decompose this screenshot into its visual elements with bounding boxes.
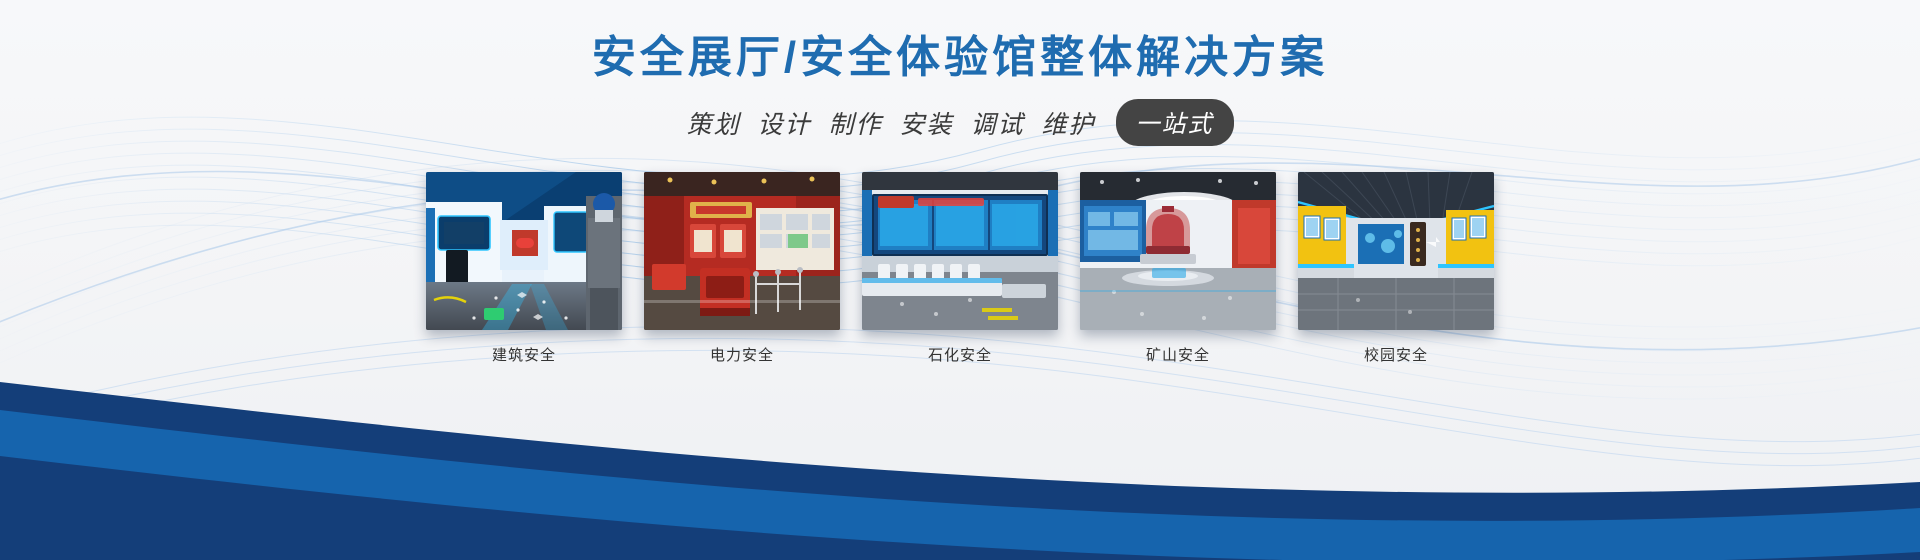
case-card[interactable]: 电力安全	[644, 172, 840, 365]
case-card[interactable]: 矿山安全	[1080, 172, 1276, 365]
case-caption: 建筑安全	[426, 344, 622, 365]
petrochemical-safety-exhibition-hall-image[interactable]	[862, 172, 1058, 330]
service-step: 调试	[971, 105, 1025, 141]
service-step: 策划	[686, 105, 740, 141]
electric-power-safety-exhibition-hall-image[interactable]	[644, 172, 840, 330]
service-step: 安装	[900, 105, 954, 141]
case-card[interactable]: 建筑安全	[426, 172, 622, 365]
safety-exhibition-banner: 安全展厅/安全体验馆整体解决方案 策划 设计 制作 安装 调试 维护 一站式	[0, 0, 1920, 560]
service-step: 维护	[1042, 105, 1096, 141]
case-card[interactable]: 校园安全	[1298, 172, 1494, 365]
case-caption: 校园安全	[1298, 344, 1494, 365]
case-caption: 石化安全	[862, 344, 1058, 365]
service-step: 设计	[757, 105, 811, 141]
banner-content: 安全展厅/安全体验馆整体解决方案 策划 设计 制作 安装 调试 维护 一站式	[0, 0, 1920, 365]
service-steps: 策划 设计 制作 安装 调试 维护	[686, 105, 1095, 141]
page-title: 安全展厅/安全体验馆整体解决方案	[0, 0, 1920, 85]
construction-safety-exhibition-hall-image[interactable]	[426, 172, 622, 330]
subtitle-row: 策划 设计 制作 安装 调试 维护 一站式	[0, 99, 1920, 146]
exhibition-case-gallery: 建筑安全	[0, 172, 1920, 365]
service-step: 制作	[828, 105, 882, 141]
campus-safety-exhibition-hall-image[interactable]	[1298, 172, 1494, 330]
case-caption: 矿山安全	[1080, 344, 1276, 365]
case-card[interactable]: 石化安全	[862, 172, 1058, 365]
mining-safety-exhibition-hall-image[interactable]	[1080, 172, 1276, 330]
case-caption: 电力安全	[644, 344, 840, 365]
one-stop-badge: 一站式	[1116, 99, 1234, 146]
